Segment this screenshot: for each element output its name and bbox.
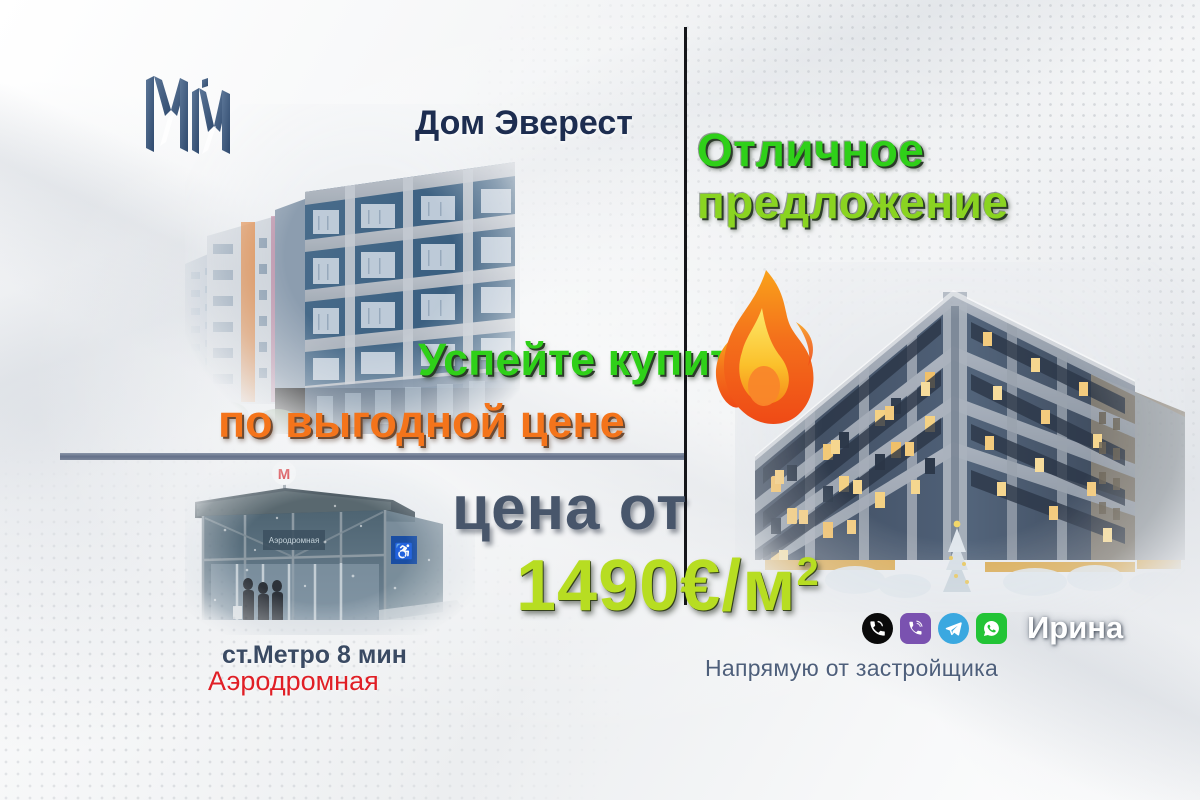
metro-station-name: Аэродромная: [208, 666, 379, 697]
headline-line-1: Отличное: [697, 124, 924, 176]
price-value: 1490€/м2: [516, 545, 820, 627]
telegram-icon[interactable]: [938, 613, 969, 644]
price-amount: 1490€/м: [516, 546, 796, 626]
viber-icon[interactable]: [900, 613, 931, 644]
price-label: цена от: [452, 473, 687, 544]
photo-metro-station: M Аэродром: [185, 460, 475, 635]
price-unit-exponent: 2: [796, 550, 819, 594]
developer-note: Напрямую от застройщика: [705, 655, 998, 682]
horizontal-divider: [60, 453, 684, 460]
svg-text:M: M: [278, 466, 291, 483]
agent-name: Ирина: [1027, 610, 1123, 646]
contact-row[interactable]: Ирина: [862, 610, 1123, 646]
mw-monogram-logo: [144, 74, 238, 156]
subheadline-good-price: по выгодной цене: [218, 396, 625, 448]
real-estate-ad-banner: M Аэродром: [0, 0, 1200, 800]
fire-icon: [700, 262, 825, 442]
phone-icon[interactable]: [862, 613, 893, 644]
headline-line-2: предложение: [697, 176, 1009, 228]
whatsapp-icon[interactable]: [976, 613, 1007, 644]
headline-offer: Отличное предложение: [697, 124, 1009, 228]
page-title-building-name: Дом Эверест: [415, 104, 633, 143]
svg-text:Аэродромная: Аэродромная: [269, 536, 320, 545]
svg-text:♿: ♿: [394, 542, 414, 561]
